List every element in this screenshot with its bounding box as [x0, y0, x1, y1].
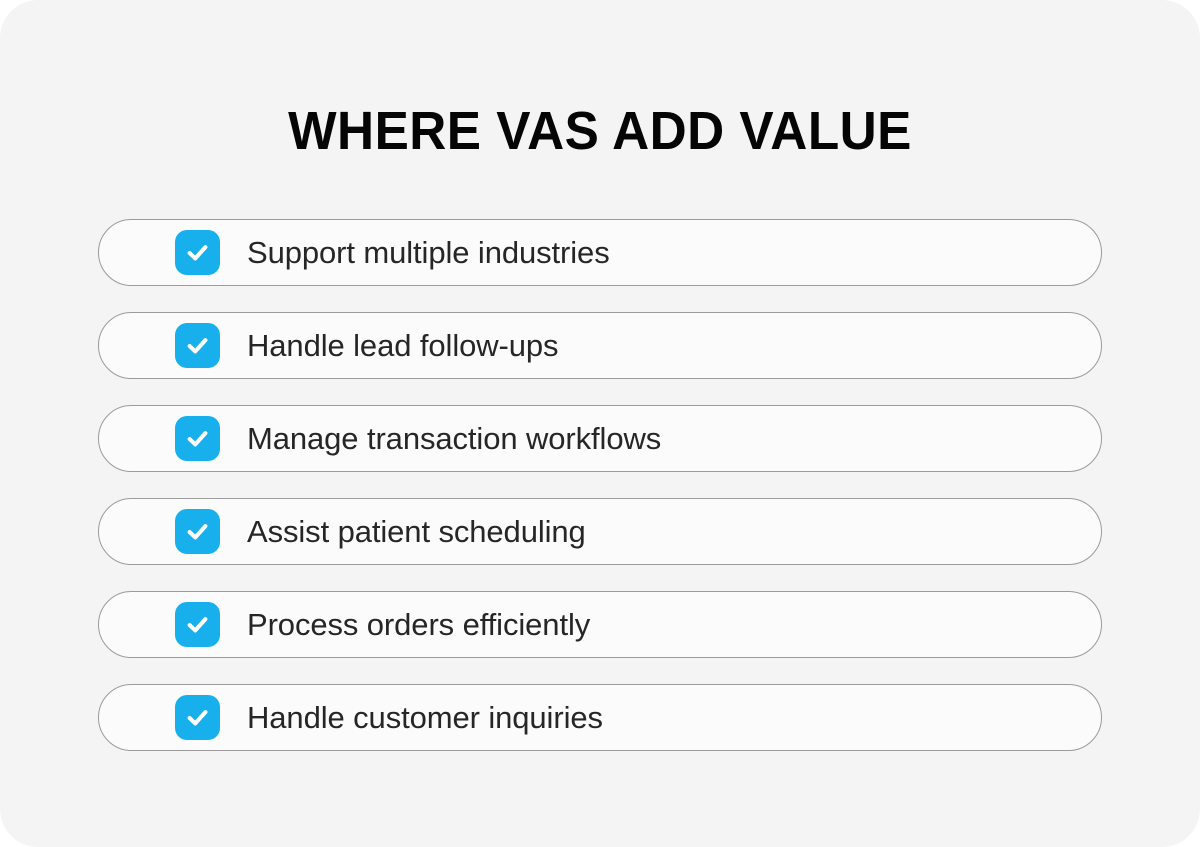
list-item[interactable]: Assist patient scheduling	[98, 498, 1102, 565]
list-item-label: Manage transaction workflows	[247, 423, 661, 454]
check-badge-icon	[175, 695, 220, 740]
page-title: WHERE VAS ADD VALUE	[30, 104, 1170, 158]
list-item[interactable]: Process orders efficiently	[98, 591, 1102, 658]
check-badge-icon	[175, 416, 220, 461]
list-item-label: Process orders efficiently	[247, 609, 590, 640]
list-item[interactable]: Handle lead follow-ups	[98, 312, 1102, 379]
check-badge-icon	[175, 602, 220, 647]
list-item-label: Handle customer inquiries	[247, 702, 603, 733]
list-item[interactable]: Support multiple industries	[98, 219, 1102, 286]
list-item-label: Support multiple industries	[247, 237, 610, 268]
list-item[interactable]: Handle customer inquiries	[98, 684, 1102, 751]
check-badge-icon	[175, 230, 220, 275]
list-item[interactable]: Manage transaction workflows	[98, 405, 1102, 472]
check-badge-icon	[175, 323, 220, 368]
value-list: Support multiple industries Handle lead …	[98, 219, 1102, 751]
check-badge-icon	[175, 509, 220, 554]
list-item-label: Assist patient scheduling	[247, 516, 586, 547]
value-proposition-card: WHERE VAS ADD VALUE Support multiple ind…	[0, 0, 1200, 847]
list-item-label: Handle lead follow-ups	[247, 330, 558, 361]
